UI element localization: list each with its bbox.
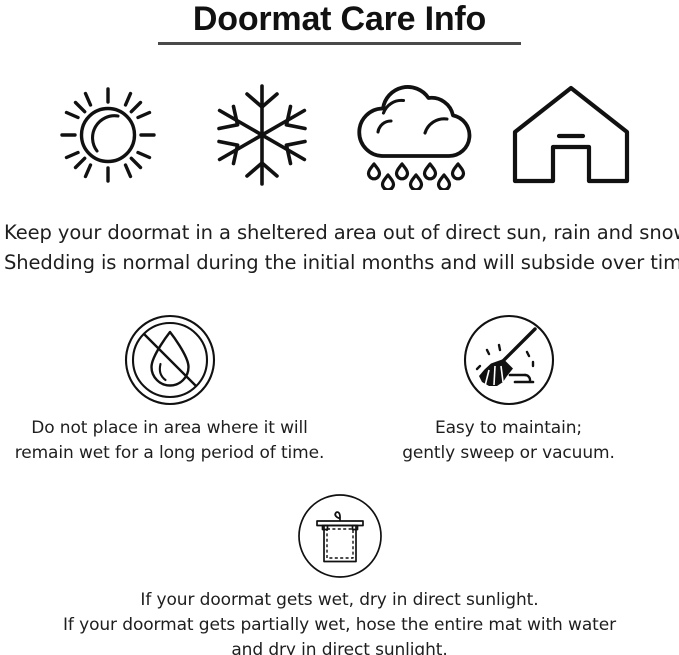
care-caption-no-water-line-2: remain wet for a long period of time. bbox=[15, 441, 325, 466]
care-caption-sweep-line-1: Easy to maintain; bbox=[402, 416, 615, 441]
care-caption-sweep: Easy to maintain; gently sweep or vacuum… bbox=[402, 416, 615, 466]
snowflake-icon bbox=[192, 74, 332, 196]
intro-line-2: Shedding is normal during the initial mo… bbox=[4, 248, 679, 278]
rain-cloud-icon bbox=[347, 74, 487, 196]
intro-line-1: Keep your doormat in a sheltered area ou… bbox=[4, 218, 679, 248]
sun-icon bbox=[38, 74, 178, 196]
intro-paragraph: Keep your doormat in a sheltered area ou… bbox=[4, 218, 679, 278]
doormat-care-info-page: Doormat Care Info bbox=[0, 0, 679, 655]
drying-instructions: If your doormat gets wet, dry in direct … bbox=[0, 490, 679, 655]
care-caption-no-water-line-1: Do not place in area where it will bbox=[15, 416, 325, 441]
drying-caption-line-2: If your doormat gets partially wet, hose… bbox=[63, 613, 616, 638]
drying-caption-line-3: and dry in direct sunlight. bbox=[63, 638, 616, 655]
care-caption-no-water: Do not place in area where it will remai… bbox=[15, 416, 325, 466]
title-underline-rule bbox=[158, 42, 521, 45]
header: Doormat Care Info bbox=[0, 0, 679, 45]
no-water-icon bbox=[124, 312, 216, 408]
page-title: Doormat Care Info bbox=[0, 0, 679, 37]
drying-caption-line-1: If your doormat gets wet, dry in direct … bbox=[63, 588, 616, 613]
drying-caption: If your doormat gets wet, dry in direct … bbox=[63, 588, 616, 655]
care-caption-sweep-line-2: gently sweep or vacuum. bbox=[402, 441, 615, 466]
care-tip-sweep: Easy to maintain; gently sweep or vacuum… bbox=[339, 312, 678, 466]
hang-dry-mat-icon bbox=[297, 490, 383, 582]
care-tips-row: Do not place in area where it will remai… bbox=[0, 312, 679, 466]
house-icon bbox=[501, 74, 641, 196]
care-tip-no-water: Do not place in area where it will remai… bbox=[0, 312, 339, 466]
weather-icon-row bbox=[0, 74, 679, 196]
broom-sweep-icon bbox=[463, 312, 555, 408]
